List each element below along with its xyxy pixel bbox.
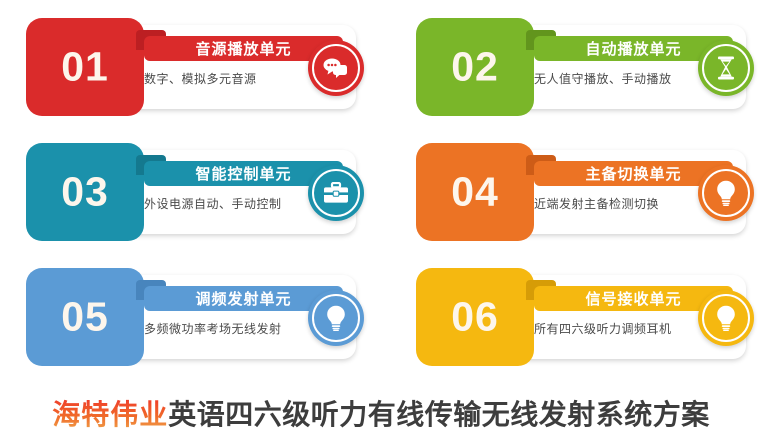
card-title: 音源播放单元: [195, 38, 291, 59]
card-icon-badge[interactable]: [308, 40, 364, 96]
feature-card-06[interactable]: 06信号接收单元所有四六级听力调频耳机: [416, 268, 746, 366]
card-number-block: 01: [26, 18, 144, 116]
card-title: 主备切换单元: [585, 163, 681, 184]
briefcase-icon: [312, 169, 360, 217]
page-title-text: 英语四六级听力有线传输无线发射系统方案: [168, 398, 710, 431]
card-number-block: 02: [416, 18, 534, 116]
card-icon-badge[interactable]: [698, 290, 754, 346]
lightbulb-icon: [702, 294, 750, 342]
card-icon-badge[interactable]: [308, 165, 364, 221]
card-number: 02: [416, 47, 534, 88]
feature-card-02[interactable]: 02自动播放单元无人值守播放、手动播放: [416, 18, 746, 116]
card-number: 03: [26, 172, 144, 213]
card-icon-badge[interactable]: [698, 165, 754, 221]
card-number: 04: [416, 172, 534, 213]
infographic-board: 01音源播放单元数字、模拟多元音源 02自动播放单元无人值守播放、手动播放 03…: [0, 0, 762, 441]
card-icon-badge[interactable]: [308, 290, 364, 346]
feature-card-04[interactable]: 04主备切换单元近端发射主备检测切换: [416, 143, 746, 241]
card-number: 01: [26, 47, 144, 88]
card-title: 信号接收单元: [585, 288, 681, 309]
lightbulb-icon: [312, 294, 360, 342]
feature-card-01[interactable]: 01音源播放单元数字、模拟多元音源: [26, 18, 356, 116]
card-icon-badge[interactable]: [698, 40, 754, 96]
hourglass-icon: [702, 44, 750, 92]
card-number: 05: [26, 297, 144, 338]
feature-card-05[interactable]: 05调频发射单元多频微功率考场无线发射: [26, 268, 356, 366]
lightbulb-icon: [702, 169, 750, 217]
page-title: 海特伟业英语四六级听力有线传输无线发射系统方案: [0, 393, 762, 433]
card-title: 调频发射单元: [195, 288, 291, 309]
card-number: 06: [416, 297, 534, 338]
chat-bubbles-icon: [312, 44, 360, 92]
card-title: 自动播放单元: [585, 38, 681, 59]
card-number-block: 05: [26, 268, 144, 366]
card-number-block: 03: [26, 143, 144, 241]
card-number-block: 06: [416, 268, 534, 366]
card-number-block: 04: [416, 143, 534, 241]
feature-card-03[interactable]: 03智能控制单元外设电源自动、手动控制: [26, 143, 356, 241]
brand-name: 海特伟业: [52, 398, 168, 431]
card-title: 智能控制单元: [195, 163, 291, 184]
